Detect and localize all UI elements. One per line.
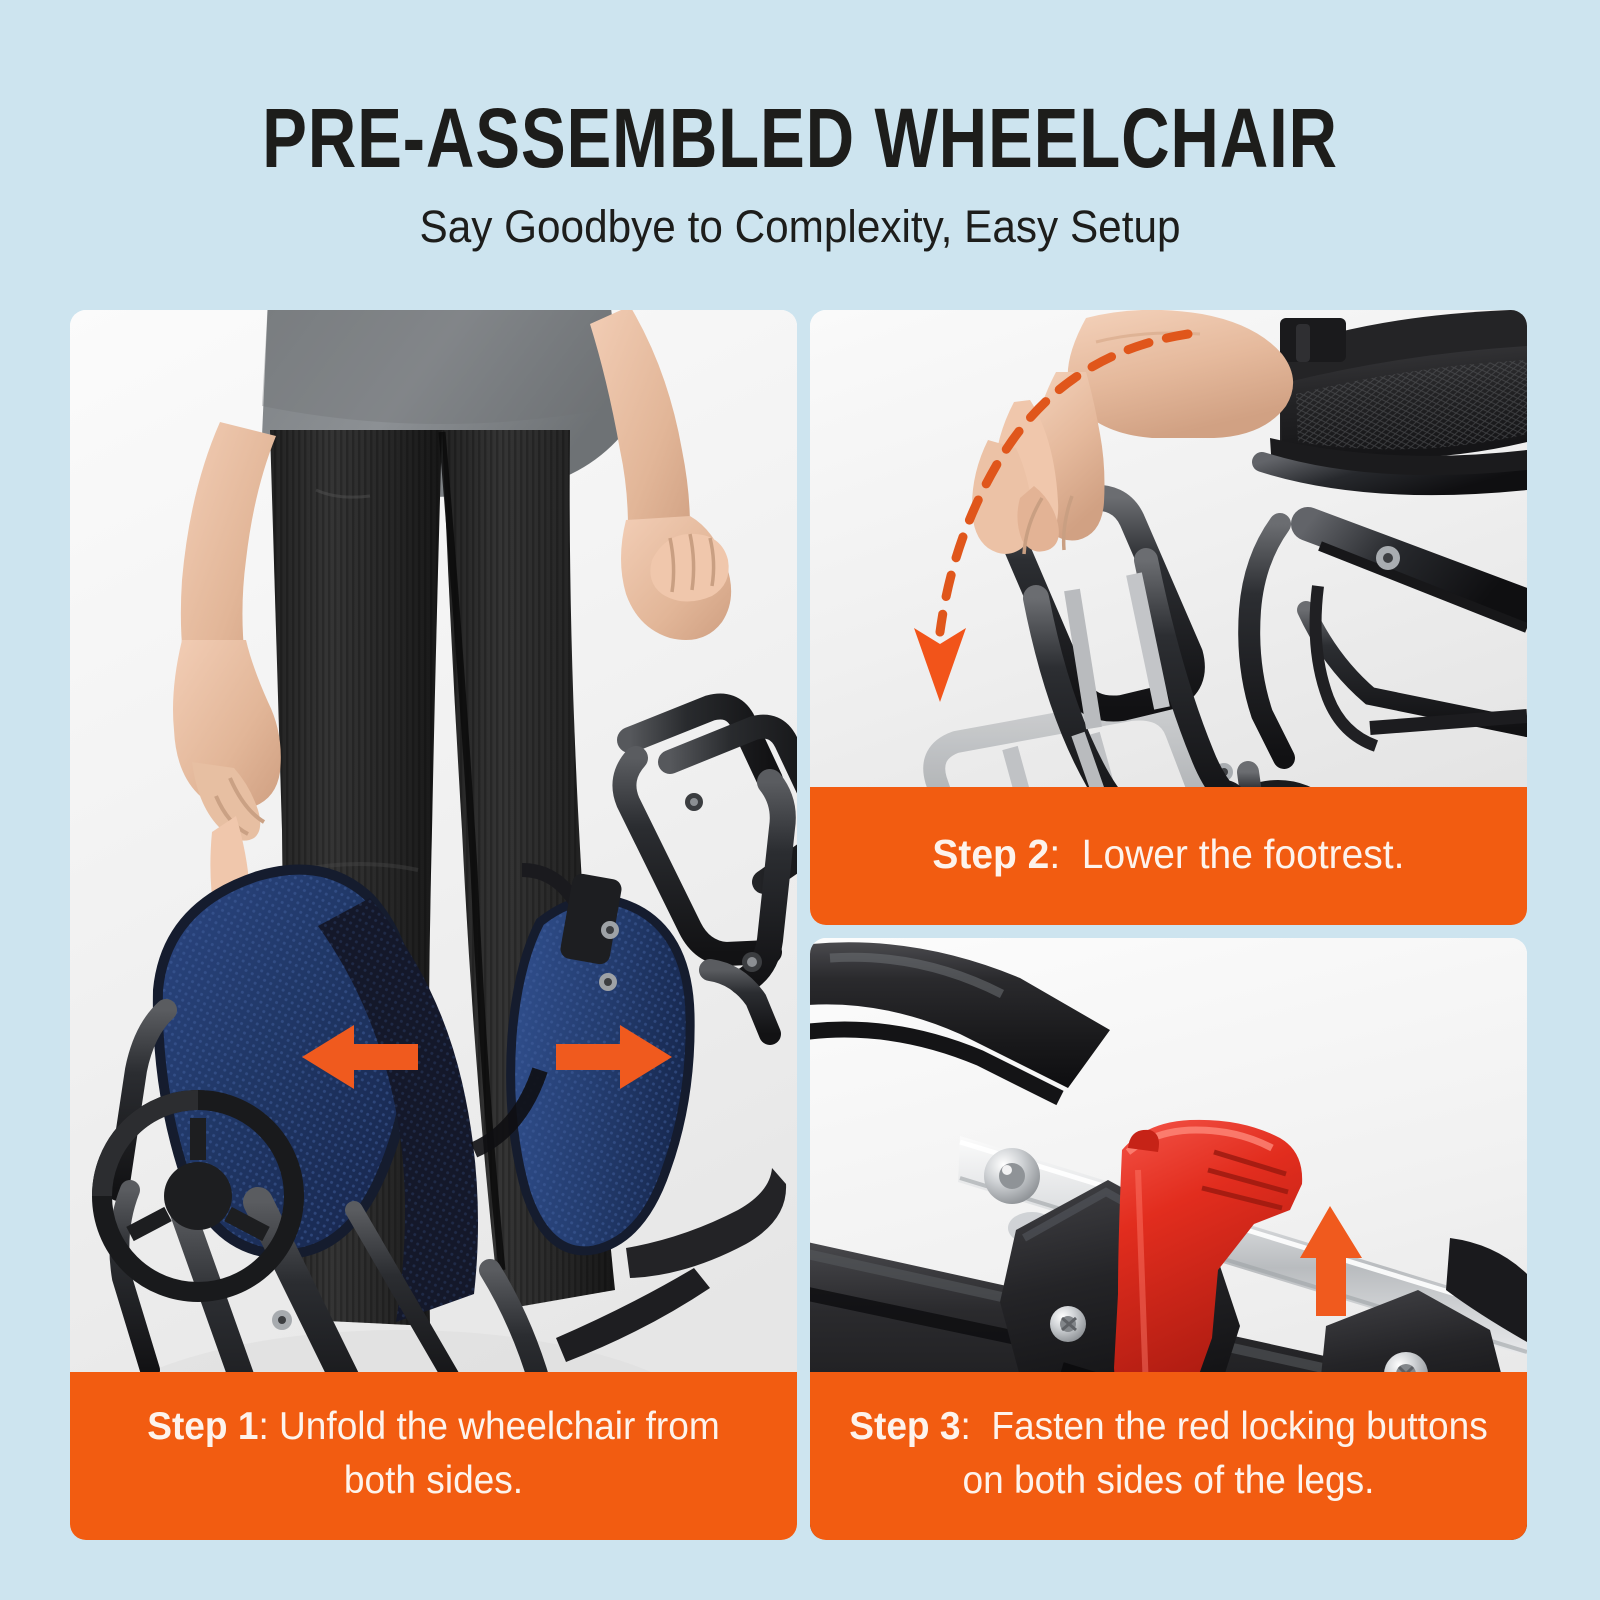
step-3-text: Fasten the red locking buttons on both s… <box>963 1405 1488 1502</box>
step-card-3: Step 3: Fasten the red locking buttons o… <box>810 938 1527 1540</box>
step-caption-2: Step 2: Lower the footrest. <box>810 787 1527 925</box>
step-3-separator: : <box>960 1405 970 1448</box>
unfold-wheelchair-illustration <box>70 310 797 1540</box>
step-2-text: Lower the footrest. <box>1082 831 1405 877</box>
page-subtitle: Say Goodbye to Complexity, Easy Setup <box>48 180 1552 252</box>
step-card-1: Step 1: Unfold the wheelchair from both … <box>70 310 797 1540</box>
step-1-separator: : <box>258 1405 268 1448</box>
step-1-text: Unfold the wheelchair from both sides. <box>279 1405 720 1502</box>
page-title: PRE-ASSEMBLED WHEELCHAIR <box>160 0 1440 180</box>
step-caption-1: Step 1: Unfold the wheelchair from both … <box>70 1372 797 1540</box>
step-3-label: Step 3 <box>849 1405 960 1448</box>
page-header: PRE-ASSEMBLED WHEELCHAIR Say Goodbye to … <box>0 0 1600 252</box>
step-2-label: Step 2 <box>932 831 1049 877</box>
step-caption-3: Step 3: Fasten the red locking buttons o… <box>810 1372 1527 1540</box>
step-2-separator: : <box>1049 831 1060 877</box>
step-card-2: Step 2: Lower the footrest. <box>810 310 1527 925</box>
unfold-wheelchair-photo <box>70 310 797 1540</box>
step-1-label: Step 1 <box>147 1405 258 1448</box>
